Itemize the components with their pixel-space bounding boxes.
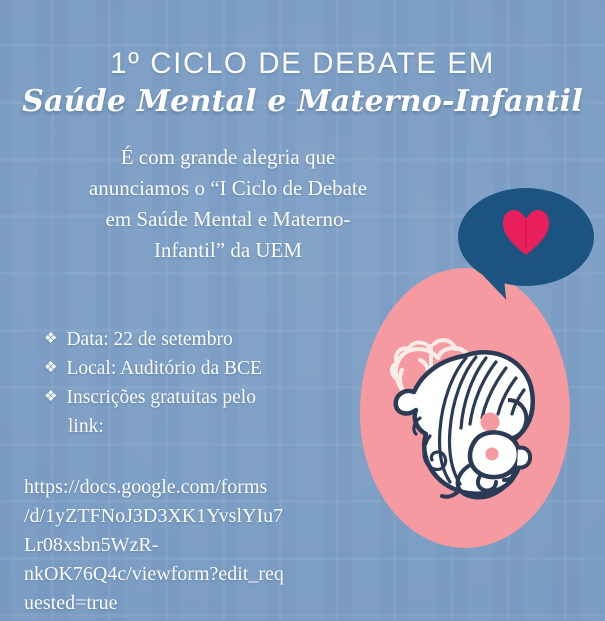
heart-icon xyxy=(500,208,552,258)
lead-line: Infantil” da UEM xyxy=(32,235,424,266)
lead-line: anunciamos o “I Ciclo de Debate xyxy=(32,173,424,204)
poster-canvas: 1º CICLO DE DEBATE EM Saúde Mental e Mat… xyxy=(0,0,605,621)
mother-and-baby-breastfeeding-icon xyxy=(368,330,568,520)
details-bullet-list: ❖ Data: 22 de setembro ❖ Local: Auditóri… xyxy=(44,325,364,441)
list-item-continuation: link: xyxy=(68,412,364,441)
list-item-label: Local: Auditório da BCE xyxy=(66,354,262,383)
diamond-bullet-icon: ❖ xyxy=(44,383,57,412)
list-item-label: Data: 22 de setembro xyxy=(66,325,232,354)
list-item: ❖ Local: Auditório da BCE xyxy=(44,354,364,383)
speech-bubble-group xyxy=(448,182,605,312)
poster-title: 1º CICLO DE DEBATE EM xyxy=(0,47,605,81)
lead-line: em Saúde Mental e Materno- xyxy=(32,204,424,235)
poster-subtitle: Saúde Mental e Materno-Infantil xyxy=(0,84,605,119)
link-line: https://docs.google.com/forms xyxy=(24,473,354,502)
list-item-label: Inscrições gratuitas pelo xyxy=(66,383,256,412)
list-item: ❖ Data: 22 de setembro xyxy=(44,325,364,354)
link-line: Lr08xsbn5WzR- xyxy=(24,531,354,560)
diamond-bullet-icon: ❖ xyxy=(44,354,57,383)
registration-link[interactable]: https://docs.google.com/forms /d/1yZTFNo… xyxy=(24,473,354,618)
link-line: uested=true xyxy=(24,589,354,618)
lead-line: É com grande alegria que xyxy=(32,142,424,173)
link-line: /d/1yZTFNoJ3D3XK1YvslYIu7 xyxy=(24,502,354,531)
diamond-bullet-icon: ❖ xyxy=(44,325,57,354)
list-item: ❖ Inscrições gratuitas pelo xyxy=(44,383,364,412)
poster-lead-paragraph: É com grande alegria que anunciamos o “I… xyxy=(32,142,424,266)
link-line: nkOK76Q4c/viewform?edit_req xyxy=(24,560,354,589)
